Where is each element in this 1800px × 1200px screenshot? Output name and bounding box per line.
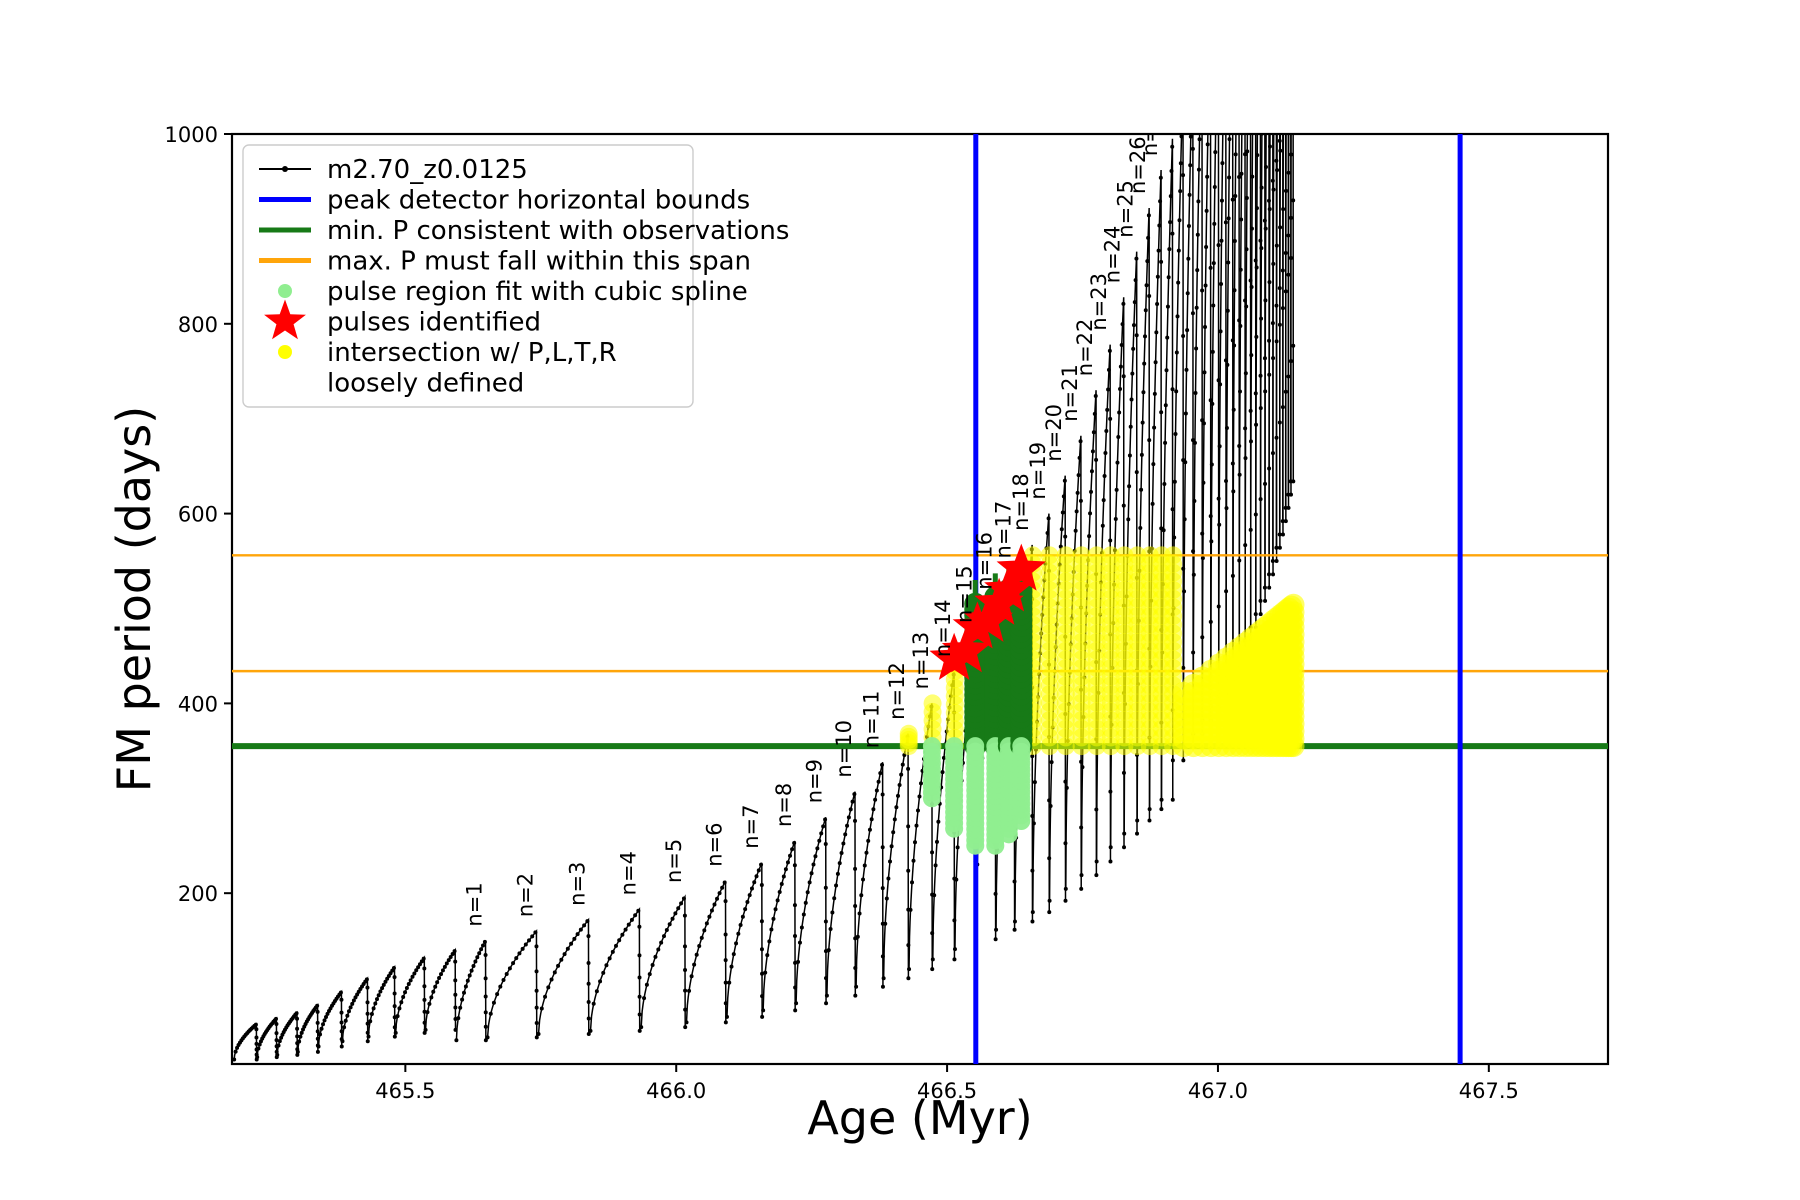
track-point bbox=[295, 1027, 299, 1031]
track-point bbox=[439, 972, 443, 976]
track-point bbox=[492, 1001, 496, 1005]
track-point bbox=[881, 845, 885, 849]
track-point bbox=[836, 872, 840, 876]
track-point bbox=[1094, 394, 1098, 398]
track-point bbox=[827, 948, 831, 952]
track-point bbox=[829, 927, 833, 931]
track-point bbox=[598, 979, 602, 983]
track-point bbox=[559, 958, 563, 962]
track-point bbox=[397, 1006, 401, 1010]
track-point bbox=[1281, 306, 1285, 310]
track-point bbox=[936, 820, 940, 824]
track-point bbox=[399, 1000, 403, 1004]
track-point bbox=[1115, 488, 1119, 492]
track-point bbox=[1192, 499, 1196, 503]
track-point bbox=[819, 831, 823, 835]
track-point bbox=[1171, 758, 1175, 762]
track-point bbox=[798, 941, 802, 945]
track-point bbox=[1196, 199, 1200, 203]
track-point bbox=[866, 839, 870, 843]
track-point bbox=[1102, 498, 1106, 502]
track-point bbox=[274, 1022, 278, 1026]
track-point bbox=[881, 886, 885, 890]
track-point bbox=[453, 949, 457, 953]
track-point bbox=[1210, 463, 1214, 467]
track-point bbox=[1154, 360, 1158, 364]
track-point bbox=[1135, 818, 1139, 822]
track-point bbox=[535, 1035, 539, 1039]
track-point bbox=[683, 914, 687, 918]
track-point bbox=[1225, 506, 1229, 510]
track-point bbox=[1212, 222, 1216, 226]
track-point bbox=[424, 1028, 428, 1032]
track-point bbox=[535, 1006, 539, 1010]
track-point bbox=[1268, 280, 1272, 284]
track-point bbox=[1233, 288, 1237, 292]
track-point bbox=[1047, 516, 1051, 520]
track-point bbox=[1183, 460, 1187, 464]
intersection-blob bbox=[900, 725, 918, 743]
track-point bbox=[906, 869, 910, 873]
track-point bbox=[1220, 161, 1224, 165]
track-point bbox=[1204, 245, 1208, 249]
track-point bbox=[1218, 382, 1222, 386]
track-point bbox=[811, 863, 815, 867]
track-point bbox=[1206, 142, 1210, 146]
track-point bbox=[724, 899, 728, 903]
track-point bbox=[595, 989, 599, 993]
track-point bbox=[1103, 451, 1107, 455]
pulse-number-label: n=10 bbox=[832, 720, 856, 778]
track-point bbox=[323, 1018, 327, 1022]
track-point bbox=[1188, 163, 1192, 167]
track-point bbox=[1234, 152, 1238, 156]
track-point bbox=[1115, 461, 1119, 465]
track-point bbox=[1061, 511, 1065, 515]
track-point bbox=[1079, 887, 1083, 891]
track-point bbox=[725, 1015, 729, 1019]
track-point bbox=[1116, 435, 1120, 439]
legend-swatch-dot bbox=[278, 345, 292, 359]
legend-entry-label[interactable]: min. P consistent with observations bbox=[327, 216, 789, 246]
track-point bbox=[1191, 311, 1195, 315]
track-point bbox=[891, 830, 895, 834]
track-point bbox=[534, 944, 538, 948]
track-point bbox=[1250, 175, 1254, 179]
track-point bbox=[393, 1004, 397, 1008]
track-point bbox=[1267, 586, 1271, 590]
track-point bbox=[275, 1031, 279, 1035]
track-point bbox=[1225, 426, 1229, 430]
legend-swatch-dot bbox=[278, 284, 292, 298]
track-point bbox=[585, 919, 589, 923]
track-point bbox=[760, 883, 764, 887]
legend-entry-label[interactable]: max. P must fall within this span bbox=[327, 247, 751, 277]
track-point bbox=[1249, 439, 1253, 443]
spline-fit-dot bbox=[923, 737, 941, 755]
track-point bbox=[757, 868, 761, 872]
legend-entry-label[interactable]: pulse region fit with cubic spline bbox=[327, 277, 748, 307]
track-point bbox=[752, 880, 756, 884]
track-point bbox=[1170, 145, 1174, 149]
track-point bbox=[1143, 334, 1147, 338]
track-point bbox=[1186, 291, 1190, 295]
track-point bbox=[1105, 408, 1109, 412]
legend-swatch-dot bbox=[282, 166, 288, 172]
track-point bbox=[759, 863, 763, 867]
track-point bbox=[769, 927, 773, 931]
track-point bbox=[1185, 328, 1189, 332]
track-point bbox=[864, 851, 868, 855]
track-point bbox=[642, 996, 646, 1000]
track-point bbox=[881, 792, 885, 796]
track-point bbox=[700, 936, 704, 940]
track-point bbox=[1231, 489, 1235, 493]
track-point bbox=[1151, 462, 1155, 466]
track-point bbox=[320, 1027, 324, 1031]
track-point bbox=[1147, 213, 1151, 217]
track-point bbox=[767, 939, 771, 943]
track-point bbox=[802, 912, 806, 916]
legend-entry-label[interactable]: peak detector horizontal bounds bbox=[327, 186, 750, 216]
track-point bbox=[473, 960, 477, 964]
track-point bbox=[372, 1006, 376, 1010]
track-point bbox=[234, 1050, 238, 1054]
track-point bbox=[1227, 216, 1231, 220]
track-point bbox=[1065, 786, 1069, 790]
track-point bbox=[1211, 350, 1215, 354]
track-point bbox=[1201, 481, 1205, 485]
track-point bbox=[1077, 473, 1081, 477]
track-point bbox=[1284, 519, 1288, 523]
track-point bbox=[690, 974, 694, 978]
track-point bbox=[824, 920, 828, 924]
track-point bbox=[396, 1014, 400, 1018]
track-point bbox=[1181, 173, 1185, 177]
track-point bbox=[741, 915, 745, 919]
pulse-number-label: n=9 bbox=[803, 759, 827, 803]
track-point bbox=[724, 981, 728, 985]
track-point bbox=[1129, 425, 1133, 429]
track-point bbox=[1046, 531, 1050, 535]
track-point bbox=[1132, 323, 1136, 327]
track-point bbox=[685, 1020, 689, 1024]
track-point bbox=[401, 995, 405, 999]
pulse-number-label: n=5 bbox=[662, 839, 686, 883]
track-point bbox=[1179, 161, 1183, 165]
track-point bbox=[1210, 402, 1214, 406]
track-point bbox=[1259, 406, 1263, 410]
track-point bbox=[808, 880, 812, 884]
track-point bbox=[1087, 534, 1091, 538]
track-point bbox=[1220, 239, 1224, 243]
track-point bbox=[853, 867, 857, 871]
track-point bbox=[608, 956, 612, 960]
track-point bbox=[1284, 189, 1288, 193]
track-point bbox=[1193, 441, 1197, 445]
track-point bbox=[784, 867, 788, 871]
track-point bbox=[475, 955, 479, 959]
track-point bbox=[365, 986, 369, 990]
track-point bbox=[1187, 224, 1191, 228]
track-point bbox=[682, 897, 686, 901]
track-point bbox=[683, 968, 687, 972]
track-point bbox=[477, 951, 481, 955]
track-point bbox=[345, 1014, 349, 1018]
track-point bbox=[687, 989, 691, 993]
track-point bbox=[1130, 372, 1134, 376]
track-point bbox=[318, 1032, 322, 1036]
x-tick-label: 466.0 bbox=[646, 1079, 706, 1103]
track-point bbox=[1091, 449, 1095, 453]
track-point bbox=[1170, 169, 1174, 173]
track-point bbox=[1255, 206, 1259, 210]
track-point bbox=[1080, 873, 1084, 877]
track-point bbox=[1121, 302, 1125, 306]
track-point bbox=[697, 944, 701, 948]
legend-entry-label[interactable]: m2.70_z0.0125 bbox=[327, 155, 528, 185]
track-point bbox=[901, 763, 905, 767]
track-point bbox=[1196, 233, 1200, 237]
track-point bbox=[468, 974, 472, 978]
track-point bbox=[274, 1017, 278, 1021]
track-point bbox=[1103, 474, 1107, 478]
track-point bbox=[587, 961, 591, 965]
track-point bbox=[1119, 365, 1123, 369]
track-point bbox=[1219, 282, 1223, 286]
track-point bbox=[793, 934, 797, 938]
track-point bbox=[431, 990, 435, 994]
track-point bbox=[1108, 417, 1112, 421]
track-point bbox=[1159, 410, 1163, 414]
track-point bbox=[373, 1002, 377, 1006]
track-point bbox=[930, 850, 934, 854]
track-point bbox=[1275, 244, 1279, 248]
track-point bbox=[723, 881, 727, 885]
track-point bbox=[633, 913, 637, 917]
track-point bbox=[1259, 599, 1263, 603]
pulse-number-label: n=8 bbox=[772, 783, 796, 827]
track-point bbox=[1177, 218, 1181, 222]
track-point bbox=[1195, 268, 1199, 272]
track-point bbox=[367, 1035, 371, 1039]
track-point bbox=[1291, 198, 1295, 202]
track-point bbox=[1108, 349, 1112, 353]
track-point bbox=[638, 995, 642, 999]
track-point bbox=[579, 928, 583, 932]
track-point bbox=[454, 1038, 458, 1042]
track-point bbox=[1138, 526, 1142, 530]
track-point bbox=[1194, 391, 1198, 395]
track-point bbox=[1164, 403, 1168, 407]
track-point bbox=[1159, 176, 1163, 180]
track-point bbox=[707, 915, 711, 919]
track-point bbox=[624, 928, 628, 932]
track-point bbox=[340, 1039, 344, 1043]
track-point bbox=[1281, 207, 1285, 211]
track-point bbox=[422, 998, 426, 1002]
track-point bbox=[1048, 899, 1052, 903]
track-point bbox=[443, 965, 447, 969]
track-point bbox=[841, 841, 845, 845]
track-point bbox=[422, 967, 426, 971]
track-point bbox=[705, 921, 709, 925]
track-point bbox=[1089, 490, 1093, 494]
track-point bbox=[1245, 149, 1249, 153]
track-point bbox=[1122, 374, 1126, 378]
track-point bbox=[1278, 149, 1282, 153]
track-point bbox=[1198, 137, 1202, 141]
track-point bbox=[793, 863, 797, 867]
track-point bbox=[796, 960, 800, 964]
track-point bbox=[1128, 454, 1132, 458]
track-point bbox=[994, 937, 998, 941]
spline-fit-dot bbox=[945, 737, 963, 755]
chart-svg: n=1n=2n=3n=4n=5n=6n=7n=8n=9n=10n=11n=12n… bbox=[0, 0, 1800, 1200]
track-point bbox=[815, 846, 819, 850]
track-point bbox=[821, 824, 825, 828]
track-point bbox=[1209, 266, 1213, 270]
track-point bbox=[1244, 371, 1248, 375]
track-point bbox=[915, 824, 919, 828]
track-point bbox=[1174, 432, 1178, 436]
x-tick-label: 467.0 bbox=[1188, 1079, 1248, 1103]
track-point bbox=[340, 1045, 344, 1049]
track-point bbox=[1106, 388, 1110, 392]
track-point bbox=[774, 907, 778, 911]
track-point bbox=[1134, 257, 1138, 261]
track-point bbox=[527, 938, 531, 942]
track-point bbox=[1228, 137, 1232, 141]
track-point bbox=[638, 1012, 642, 1016]
track-point bbox=[295, 1011, 299, 1015]
track-point bbox=[906, 824, 910, 828]
track-point bbox=[1249, 353, 1253, 357]
track-point bbox=[1033, 780, 1037, 784]
track-point bbox=[339, 998, 343, 1002]
track-point bbox=[316, 1021, 320, 1025]
track-point bbox=[932, 893, 936, 897]
track-point bbox=[275, 1053, 279, 1057]
pulse-number-label: n=13 bbox=[909, 632, 933, 690]
track-point bbox=[1231, 198, 1235, 202]
track-point bbox=[1151, 502, 1155, 506]
track-point bbox=[724, 932, 728, 936]
track-point bbox=[1079, 499, 1083, 503]
legend-entry-label[interactable]: pulses identified bbox=[327, 308, 541, 338]
track-point bbox=[724, 958, 728, 962]
track-point bbox=[435, 980, 439, 984]
track-point bbox=[611, 950, 615, 954]
track-point bbox=[893, 817, 897, 821]
track-point bbox=[1166, 305, 1170, 309]
track-point bbox=[736, 932, 740, 936]
track-point bbox=[1238, 390, 1242, 394]
track-point bbox=[342, 1025, 346, 1029]
track-point bbox=[1271, 559, 1275, 563]
track-point bbox=[852, 792, 856, 796]
track-point bbox=[1209, 539, 1213, 543]
legend-entry-label[interactable]: intersection w/ P,L,T,R bbox=[327, 338, 617, 368]
track-point bbox=[1167, 247, 1171, 251]
track-point bbox=[587, 1017, 591, 1021]
track-point bbox=[535, 969, 539, 973]
track-point bbox=[863, 864, 867, 868]
track-point bbox=[298, 1035, 302, 1039]
intersection-blob bbox=[1057, 546, 1075, 564]
track-point bbox=[278, 1039, 282, 1043]
pulse-number-label: n=2 bbox=[514, 873, 538, 917]
track-point bbox=[1254, 335, 1258, 339]
track-point bbox=[1079, 439, 1083, 443]
track-point bbox=[422, 957, 426, 961]
track-point bbox=[521, 947, 525, 951]
track-point bbox=[1104, 429, 1108, 433]
track-point bbox=[453, 993, 457, 997]
pulse-number-label: n=6 bbox=[703, 823, 727, 867]
track-point bbox=[1185, 368, 1189, 372]
track-point bbox=[771, 917, 775, 921]
track-point bbox=[524, 943, 528, 947]
track-point bbox=[1245, 196, 1249, 200]
track-point bbox=[1205, 175, 1209, 179]
track-point bbox=[910, 880, 914, 884]
track-point bbox=[913, 840, 917, 844]
track-point bbox=[1255, 153, 1259, 157]
track-point bbox=[1255, 266, 1259, 270]
track-point bbox=[604, 963, 608, 967]
track-point bbox=[470, 969, 474, 973]
track-point bbox=[349, 1005, 353, 1009]
track-point bbox=[1211, 303, 1215, 307]
legend-entry-label[interactable]: loosely defined bbox=[327, 369, 524, 399]
track-point bbox=[1284, 289, 1288, 293]
track-point bbox=[637, 953, 641, 957]
track-point bbox=[702, 928, 706, 932]
track-point bbox=[617, 938, 621, 942]
track-point bbox=[1287, 171, 1291, 175]
track-point bbox=[935, 840, 939, 844]
track-point bbox=[339, 991, 343, 995]
y-tick-label: 400 bbox=[178, 692, 218, 716]
track-point bbox=[1176, 281, 1180, 285]
track-point bbox=[1153, 392, 1157, 396]
track-point bbox=[1156, 275, 1160, 279]
track-point bbox=[1144, 308, 1148, 312]
track-point bbox=[877, 780, 881, 784]
track-point bbox=[800, 925, 804, 929]
y-tick-label: 800 bbox=[178, 313, 218, 337]
track-point bbox=[651, 963, 655, 967]
track-point bbox=[1232, 408, 1236, 412]
pulse-number-label: n=3 bbox=[565, 862, 589, 906]
track-point bbox=[472, 964, 476, 968]
track-point bbox=[495, 992, 499, 996]
track-point bbox=[1163, 441, 1167, 445]
track-point bbox=[297, 1039, 301, 1043]
track-point bbox=[481, 944, 485, 948]
track-point bbox=[425, 1010, 429, 1014]
track-point bbox=[673, 911, 677, 915]
track-point bbox=[824, 842, 828, 846]
track-point bbox=[433, 985, 437, 989]
track-point bbox=[1075, 509, 1079, 513]
track-point bbox=[392, 966, 396, 970]
track-point bbox=[894, 805, 898, 809]
track-point bbox=[586, 934, 590, 938]
track-point bbox=[340, 1021, 344, 1025]
track-point bbox=[1142, 362, 1146, 366]
